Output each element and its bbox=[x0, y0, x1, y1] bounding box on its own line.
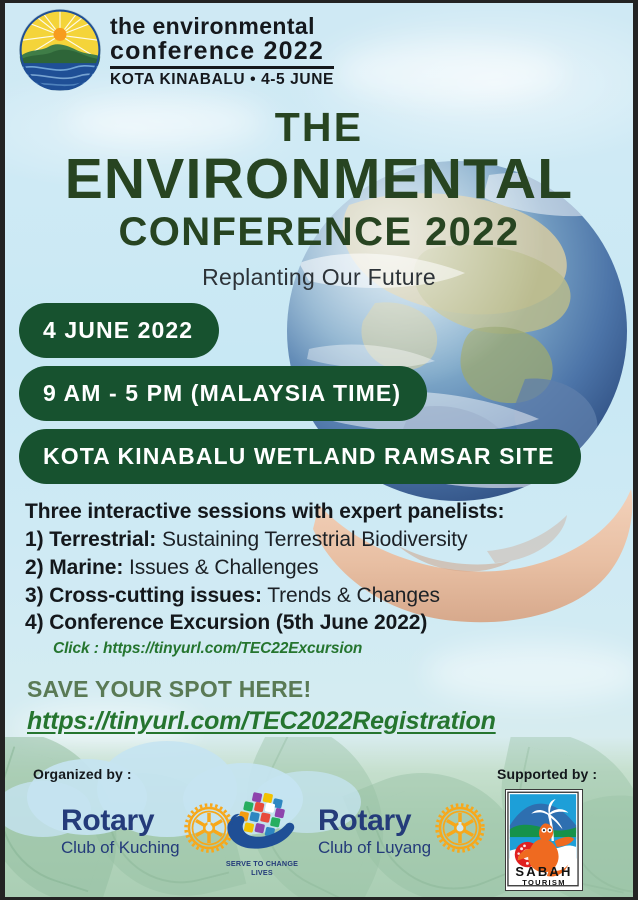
rotary-club-name: Club of Luyang bbox=[318, 839, 431, 856]
poster-title-block: THE ENVIRONMENTAL CONFERENCE 2022 Replan… bbox=[5, 107, 633, 291]
rotary-kuching-logo: Rotary Club of Kuching bbox=[61, 803, 234, 858]
title-tagline: Replanting Our Future bbox=[5, 264, 633, 291]
header-line-1: the environmental bbox=[110, 15, 334, 38]
supported-by-label: Supported by : bbox=[497, 766, 597, 782]
title-line-2: ENVIRONMENTAL bbox=[5, 151, 633, 208]
rotary-wheel-icon bbox=[435, 803, 485, 858]
session-num: 3) bbox=[25, 584, 43, 607]
event-logo-header: the environmental conference 2022 KOTA K… bbox=[19, 9, 334, 91]
sabah-line-1: SABAH bbox=[506, 865, 582, 878]
session-title: Terrestrial: bbox=[49, 528, 156, 551]
conference-poster: the environmental conference 2022 KOTA K… bbox=[0, 0, 638, 900]
sabah-tourism-logo: SABAH TOURISM bbox=[505, 789, 583, 891]
badge-venue: KOTA KINABALU WETLAND RAMSAR SITE bbox=[19, 429, 581, 484]
registration-link[interactable]: https://tinyurl.com/TEC2022Registration bbox=[27, 707, 496, 736]
session-title: Marine: bbox=[49, 556, 123, 579]
session-desc: Sustaining Terrestrial Biodiversity bbox=[162, 528, 467, 551]
session-item: 2) Marine: Issues & Challenges bbox=[25, 554, 625, 582]
session-title: Cross-cutting issues: bbox=[49, 584, 262, 607]
rotary-club-name: Club of Kuching bbox=[61, 839, 180, 856]
serve-tagline: SERVE TO CHANGE LIVES bbox=[219, 859, 305, 877]
serve-to-change-lives-logo: SERVE TO CHANGE LIVES bbox=[219, 791, 305, 877]
header-line-3: KOTA KINABALU • 4-5 JUNE bbox=[110, 72, 334, 88]
event-detail-badges: 4 JUNE 2022 9 AM - 5 PM (MALAYSIA TIME) … bbox=[19, 303, 581, 484]
organized-by-label: Organized by : bbox=[33, 766, 132, 782]
sessions-heading: Three interactive sessions with expert p… bbox=[25, 498, 625, 526]
sabah-wordmark: SABAH TOURISM bbox=[506, 865, 582, 887]
session-item: 4) Conference Excursion (5th June 2022) bbox=[25, 609, 625, 637]
title-line-1: THE bbox=[5, 107, 633, 149]
session-desc: Trends & Changes bbox=[267, 584, 440, 607]
badge-time: 9 AM - 5 PM (MALAYSIA TIME) bbox=[19, 366, 427, 421]
sessions-block: Three interactive sessions with expert p… bbox=[25, 498, 625, 658]
session-desc: Issues & Challenges bbox=[129, 556, 319, 579]
sun-mountain-water-emblem-icon bbox=[19, 9, 101, 91]
cta-heading: SAVE YOUR SPOT HERE! bbox=[27, 676, 496, 703]
session-num: 2) bbox=[25, 556, 43, 579]
session-item: 1) Terrestrial: Sustaining Terrestrial B… bbox=[25, 526, 625, 554]
session-item: 3) Cross-cutting issues: Trends & Change… bbox=[25, 582, 625, 610]
excursion-link[interactable]: Click : https://tinyurl.com/TEC22Excursi… bbox=[53, 640, 625, 658]
rotary-wordmark: Rotary bbox=[318, 806, 431, 836]
badge-date: 4 JUNE 2022 bbox=[19, 303, 219, 358]
registration-cta: SAVE YOUR SPOT HERE! https://tinyurl.com… bbox=[27, 676, 496, 736]
session-num: 1) bbox=[25, 528, 43, 551]
cloud-wash bbox=[335, 43, 565, 101]
hand-globe-icon bbox=[219, 791, 305, 855]
session-title: Conference Excursion (5th June 2022) bbox=[49, 611, 427, 634]
rotary-luyang-logo: Rotary Club of Luyang bbox=[318, 803, 485, 858]
title-line-3: CONFERENCE 2022 bbox=[5, 211, 633, 253]
session-num: 4) bbox=[25, 611, 43, 634]
sabah-line-2: TOURISM bbox=[506, 879, 582, 887]
rotary-wordmark: Rotary bbox=[61, 806, 180, 836]
header-line-2: conference 2022 bbox=[110, 39, 334, 69]
